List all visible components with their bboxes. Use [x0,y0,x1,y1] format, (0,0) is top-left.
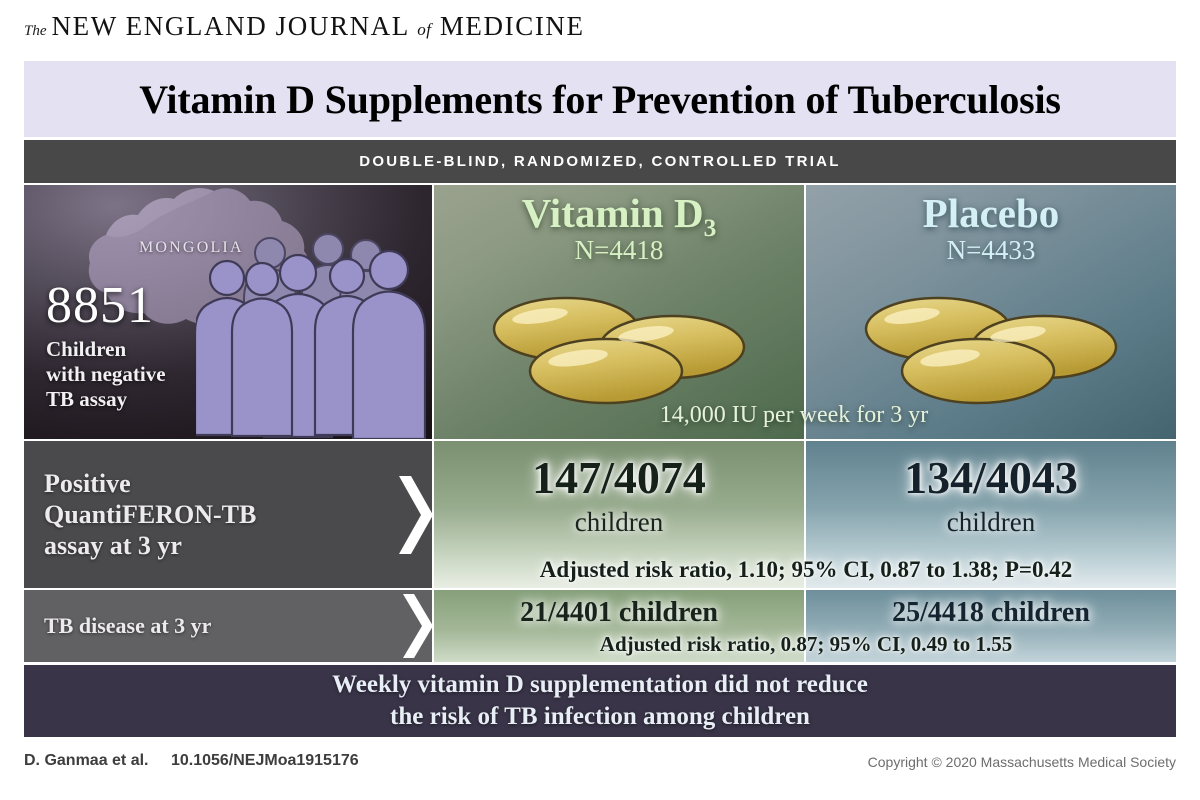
outcome-label-text: Positive QuantiFERON-TB assay at 3 yr [24,468,256,562]
participant-description: Children with negative TB assay [46,337,166,411]
population-panel: MONGOLIA 8851 Children with negative TB … [24,185,432,439]
children-group-icon [196,229,428,439]
outcome-label-line1: Positive [44,468,256,499]
chevron-right-icon [399,476,433,554]
capsules-icon [474,289,764,409]
outcome-value-vitd-number: 21/4401 children [520,599,718,627]
footer-copyright: Copyright © 2020 Massachusetts Medical S… [868,754,1176,770]
page-title: Vitamin D Supplements for Prevention of … [24,61,1176,137]
study-design-text: DOUBLE-BLIND, RANDOMIZED, CONTROLLED TRI… [359,153,841,170]
outcome-row-quantiferon: Positive QuantiFERON-TB assay at 3 yr 14… [24,441,1176,588]
outcome-label-tb-disease: TB disease at 3 yr [24,590,432,662]
masthead-part1: NEW ENGLAND JOURNAL [52,11,409,41]
masthead-title: NEW ENGLAND JOURNAL of MEDICINE [52,13,585,40]
vitamin-d-arm-name: Vitamin D [522,190,704,236]
outcome-value-vitd-number: 147/4074 [532,455,706,501]
infographic-page: The NEW ENGLAND JOURNAL of MEDICINE Vita… [0,0,1200,800]
masthead-part2: MEDICINE [440,11,585,41]
outcome-value-placebo-unit: children [947,507,1035,538]
trial-arms-band: MONGOLIA 8851 Children with negative TB … [24,185,1176,439]
vitamin-d-arm-n: N=4418 [434,237,804,264]
outcome-value-vitd-unit: children [575,507,663,538]
outcome-label-quantiferon: Positive QuantiFERON-TB assay at 3 yr [24,441,432,588]
footer-authors: D. Ganmaa et al. [24,752,149,769]
outcome-label-line2: QuantiFERON-TB [44,499,256,530]
study-design-banner: DOUBLE-BLIND, RANDOMIZED, CONTROLLED TRI… [24,140,1176,183]
conclusion-line2: the risk of TB infection among children [390,701,810,733]
outcome-label-text: TB disease at 3 yr [24,613,211,639]
outcome-value-vitamin-d: 21/4401 children [434,590,804,662]
masthead-the: The [24,24,47,39]
vitamin-d-arm-panel: Vitamin D3 N=4418 [434,185,804,439]
conclusion-banner: Weekly vitamin D supplementation did not… [24,665,1176,737]
capsules-icon [846,289,1136,409]
placebo-arm-title: Placebo [806,193,1176,234]
outcome-row-tb-disease: TB disease at 3 yr 21/4401 children 25/4… [24,590,1176,662]
outcome-value-placebo-number: 134/4043 [904,455,1078,501]
outcome-value-placebo: 25/4418 children [806,590,1176,662]
placebo-arm-n: N=4433 [806,237,1176,264]
outcome-label-line3: assay at 3 yr [44,530,256,561]
masthead-of: of [417,20,431,39]
chevron-right-icon [403,594,433,658]
footer: D. Ganmaa et al. 10.1056/NEJMoa1915176 C… [24,752,1176,778]
outcome-value-placebo: 134/4043 children [806,441,1176,588]
page-title-text: Vitamin D Supplements for Prevention of … [139,76,1061,123]
participant-desc-line2: with negative [46,362,166,387]
participant-desc-line3: TB assay [46,387,166,412]
nejm-masthead: The NEW ENGLAND JOURNAL of MEDICINE [24,13,585,47]
participant-count: 8851 [46,280,154,332]
placebo-arm-panel: Placebo N=4433 [806,185,1176,439]
conclusion-line1: Weekly vitamin D supplementation did not… [332,669,868,701]
outcome-value-vitamin-d: 147/4074 children [434,441,804,588]
footer-citation: D. Ganmaa et al. 10.1056/NEJMoa1915176 [24,752,359,770]
footer-doi[interactable]: 10.1056/NEJMoa1915176 [171,752,359,769]
outcome-value-placebo-number: 25/4418 children [892,599,1090,627]
participant-desc-line1: Children [46,337,166,362]
